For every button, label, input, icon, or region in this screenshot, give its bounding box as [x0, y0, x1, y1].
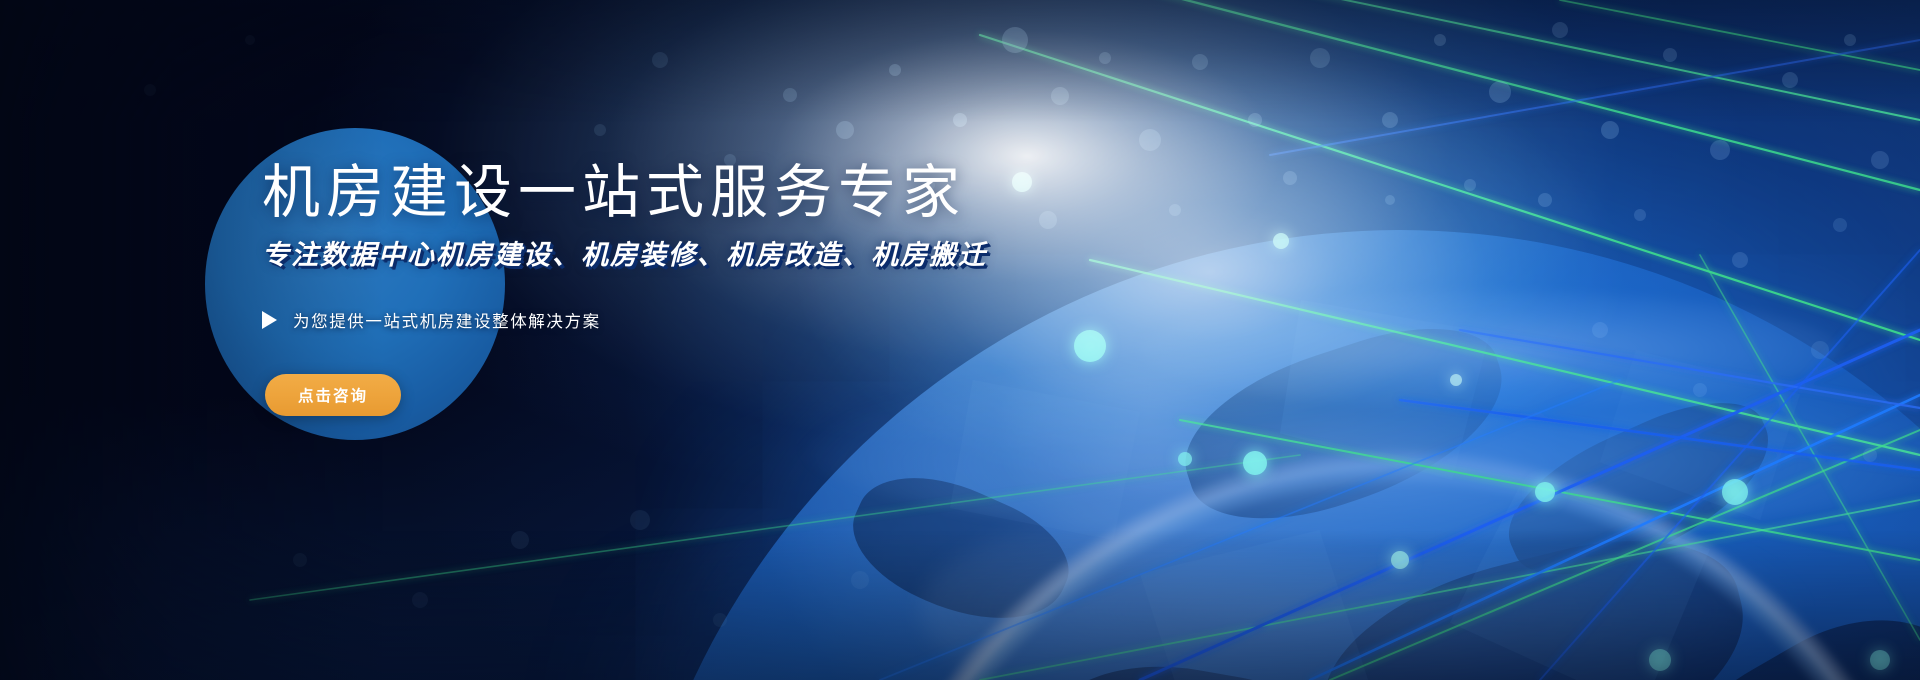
consult-button[interactable]: 点击咨询 [265, 374, 401, 416]
subtitle: 专注数据中心机房建设、机房装修、机房改造、机房搬迁 [262, 233, 987, 272]
banner-content: 机房建设一站式服务专家 专注数据中心机房建设、机房装修、机房改造、机房搬迁 为您… [0, 0, 1920, 680]
page-title: 机房建设一站式服务专家 [262, 162, 966, 225]
tagline-text: 为您提供一站式机房建设整体解决方案 [293, 308, 601, 332]
hero-banner: 机房建设一站式服务专家 专注数据中心机房建设、机房装修、机房改造、机房搬迁 为您… [0, 0, 1920, 680]
triangle-right-icon [262, 311, 277, 329]
tagline: 为您提供一站式机房建设整体解决方案 [262, 308, 601, 332]
